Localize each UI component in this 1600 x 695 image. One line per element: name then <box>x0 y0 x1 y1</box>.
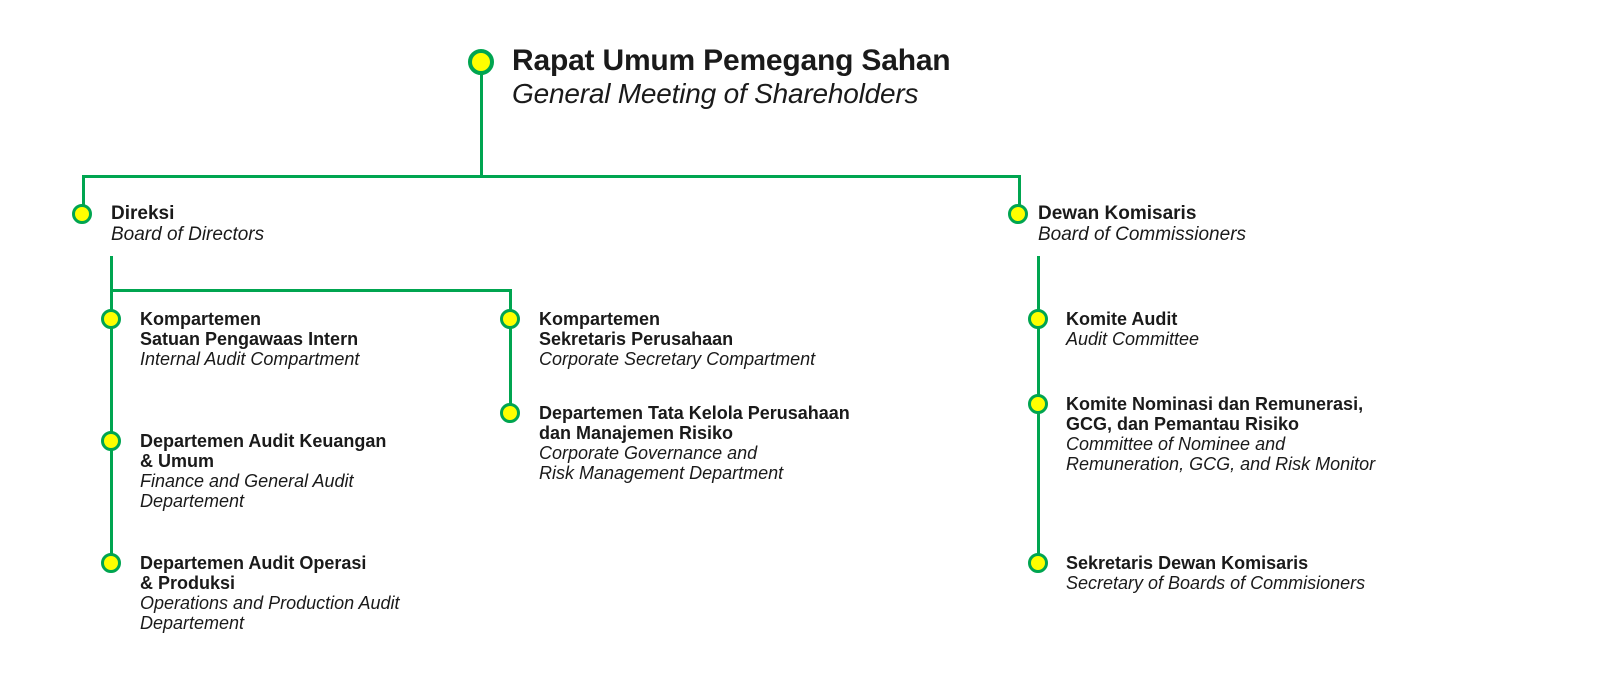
node-dewan-komisaris[interactable]: Dewan Komisaris Board of Commissioners <box>1038 203 1438 246</box>
node-operations-production-audit-name-en: Operations and Production Audit Departem… <box>140 593 540 633</box>
node-corporate-governance-risk-management-name-id: Departemen Tata Kelola Perusahaan dan Ma… <box>539 403 999 443</box>
node-nomination-remuneration-committee-name-en: Committee of Nominee and Remuneration, G… <box>1066 434 1536 474</box>
node-audit-committee[interactable]: Komite Audit Audit Committee <box>1066 309 1496 349</box>
node-finance-general-audit-name-id: Departemen Audit Keuangan & Umum <box>140 431 540 471</box>
node-nomination-remuneration-committee[interactable]: Komite Nominasi dan Remunerasi, GCG, dan… <box>1066 394 1536 475</box>
node-direksi-name-en: Board of Directors <box>111 224 441 245</box>
node-marker-corporate-governance-risk-management <box>500 403 520 423</box>
node-dewan-komisaris-name-id: Dewan Komisaris <box>1038 203 1438 224</box>
node-finance-general-audit-name-en: Finance and General Audit Departement <box>140 471 540 511</box>
node-corporate-secretary-compartment-name-en: Corporate Secretary Compartment <box>539 349 989 369</box>
node-dewan-komisaris-name-en: Board of Commissioners <box>1038 224 1438 245</box>
node-internal-audit-compartment-name-id: Kompartemen Satuan Pengawaas Intern <box>140 309 540 349</box>
node-secretary-board-commissioners[interactable]: Sekretaris Dewan Komisaris Secretary of … <box>1066 553 1536 593</box>
node-marker-operations-production-audit <box>101 553 121 573</box>
node-marker-internal-audit-compartment <box>101 309 121 329</box>
node-corporate-secretary-compartment[interactable]: Kompartemen Sekretaris Perusahaan Corpor… <box>539 309 989 369</box>
node-corporate-governance-risk-management-name-en: Corporate Governance and Risk Management… <box>539 443 999 483</box>
node-marker-root <box>468 49 494 75</box>
node-direksi[interactable]: Direksi Board of Directors <box>111 203 441 246</box>
node-marker-finance-general-audit <box>101 431 121 451</box>
node-audit-committee-name-id: Komite Audit <box>1066 309 1496 329</box>
node-corporate-governance-risk-management[interactable]: Departemen Tata Kelola Perusahaan dan Ma… <box>539 403 999 484</box>
node-internal-audit-compartment-name-en: Internal Audit Compartment <box>140 349 540 369</box>
node-marker-nomination-remuneration-committee <box>1028 394 1048 414</box>
node-internal-audit-compartment[interactable]: Kompartemen Satuan Pengawaas Intern Inte… <box>140 309 540 369</box>
node-operations-production-audit-name-id: Departemen Audit Operasi & Produksi <box>140 553 540 593</box>
connector-direksi-to-mid <box>110 289 512 292</box>
org-chart-diagram: Rapat Umum Pemegang Sahan General Meetin… <box>0 0 1600 695</box>
node-corporate-secretary-compartment-name-id: Kompartemen Sekretaris Perusahaan <box>539 309 989 349</box>
node-marker-direksi <box>72 204 92 224</box>
node-root-name-en: General Meeting of Shareholders <box>512 78 1132 109</box>
node-root-name-id: Rapat Umum Pemegang Sahan <box>512 44 1132 78</box>
node-marker-corporate-secretary-compartment <box>500 309 520 329</box>
connector-direksi-spine <box>110 256 113 568</box>
connector-level2-bus <box>82 175 1021 178</box>
node-operations-production-audit[interactable]: Departemen Audit Operasi & Produksi Oper… <box>140 553 540 634</box>
node-marker-audit-committee <box>1028 309 1048 329</box>
connector-root-stem <box>480 72 483 176</box>
node-root[interactable]: Rapat Umum Pemegang Sahan General Meetin… <box>512 44 1132 109</box>
node-finance-general-audit[interactable]: Departemen Audit Keuangan & Umum Finance… <box>140 431 540 512</box>
node-audit-committee-name-en: Audit Committee <box>1066 329 1496 349</box>
node-marker-dewan-komisaris <box>1008 204 1028 224</box>
node-secretary-board-commissioners-name-id: Sekretaris Dewan Komisaris <box>1066 553 1536 573</box>
node-nomination-remuneration-committee-name-id: Komite Nominasi dan Remunerasi, GCG, dan… <box>1066 394 1536 434</box>
node-marker-secretary-board-commissioners <box>1028 553 1048 573</box>
node-secretary-board-commissioners-name-en: Secretary of Boards of Commisioners <box>1066 573 1536 593</box>
node-direksi-name-id: Direksi <box>111 203 441 224</box>
